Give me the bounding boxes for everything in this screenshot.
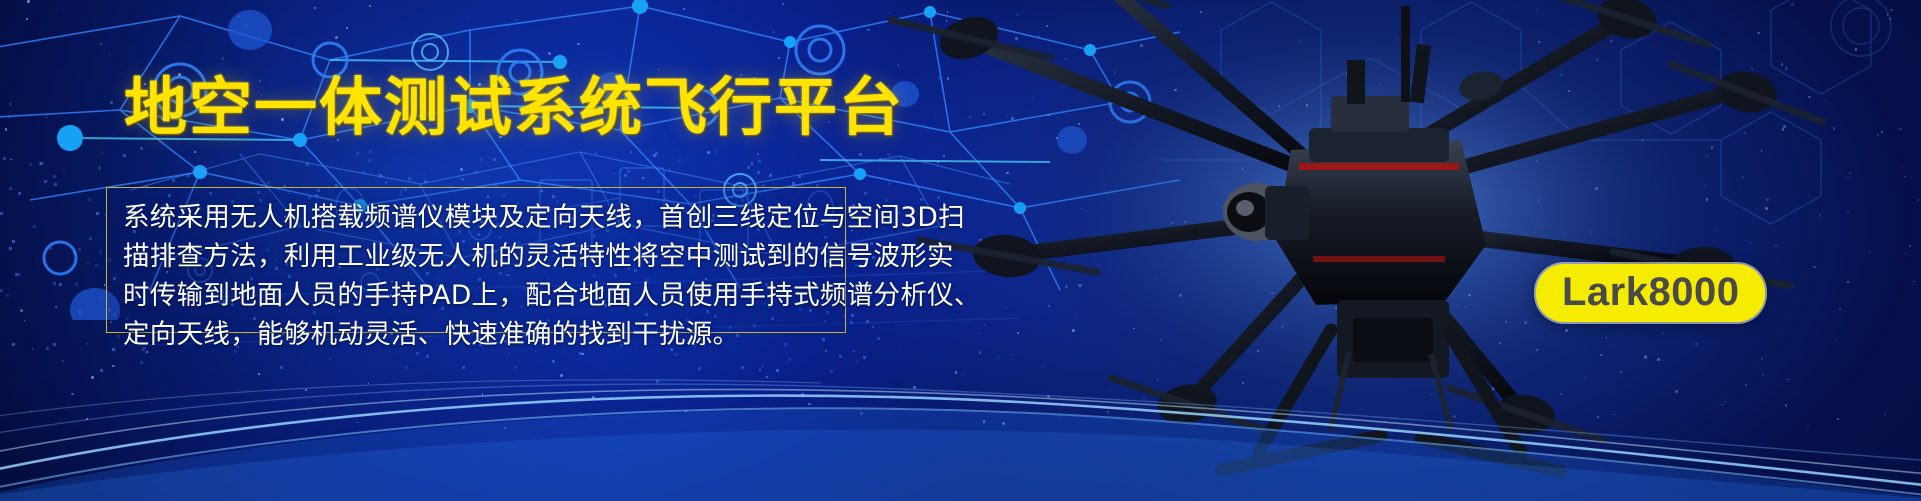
description-box: 系统采用无人机搭载频谱仪模块及定向天线，首创三线定位与空间3D扫 描排查方法，利… bbox=[106, 187, 846, 333]
drone-image bbox=[861, 0, 1921, 501]
product-model-badge: Lark8000 bbox=[1536, 264, 1765, 322]
description-line-2: 描排查方法，利用工业级无人机的灵活特性将空中测试到的信号波形实 bbox=[123, 237, 829, 276]
hexagon-circuit-motif bbox=[1161, 0, 1921, 310]
description-line-4: 定向天线，能够机动灵活、快速准确的找到干扰源。 bbox=[123, 315, 829, 354]
right-glow bbox=[851, 0, 1921, 501]
promo-banner: 地空一体测试系统飞行平台 系统采用无人机搭载频谱仪模块及定向天线，首创三线定位与… bbox=[0, 0, 1921, 501]
description-line-3: 时传输到地面人员的手持PAD上，配合地面人员使用手持式频谱分析仪、 bbox=[123, 276, 829, 315]
description-line-1: 系统采用无人机搭载频谱仪模块及定向天线，首创三线定位与空间3D扫 bbox=[123, 198, 829, 237]
hexacopter-drone-illustration bbox=[861, 0, 1921, 501]
page-title: 地空一体测试系统飞行平台 bbox=[124, 76, 904, 139]
